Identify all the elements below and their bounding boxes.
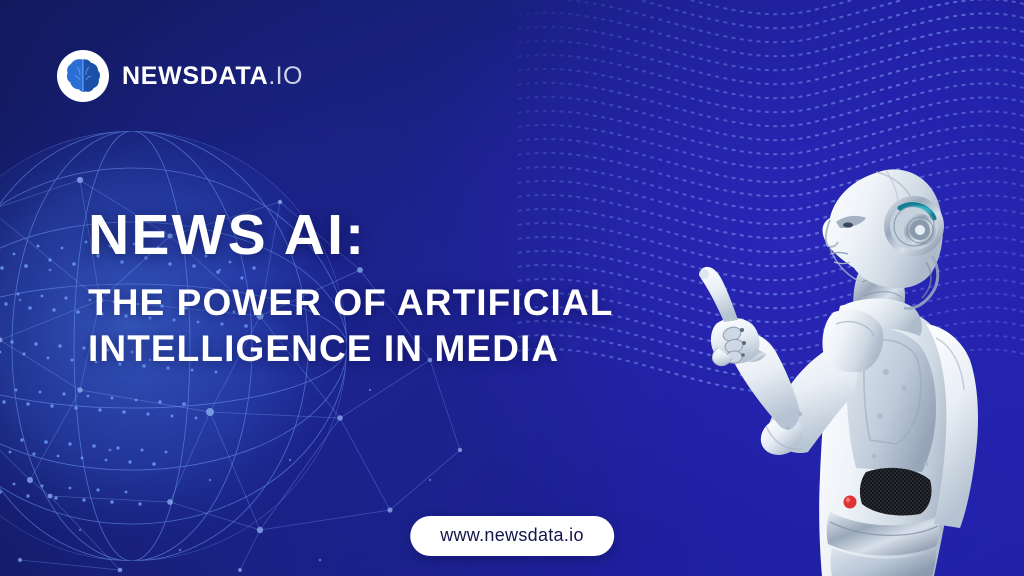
website-url-pill[interactable]: www.newsdata.io [410, 516, 614, 556]
headline-block: NEWS AI: THE POWER OF ARTIFICIAL INTELLI… [88, 206, 688, 373]
brand-name: NEWSDATA [122, 62, 268, 90]
shield-brain-icon [57, 50, 109, 102]
banner-poster: NEWSDATA.IO NEWS AI: THE POWER OF ARTIFI… [0, 0, 1024, 576]
page-title: NEWS AI: [88, 206, 688, 264]
subtitle-line-1: THE POWER OF ARTIFICIAL [88, 280, 688, 326]
page-subtitle: THE POWER OF ARTIFICIAL INTELLIGENCE IN … [88, 280, 688, 373]
humanoid-robot-pointing-graphic [690, 156, 1020, 576]
brand-tld: .IO [268, 62, 303, 90]
brand-wordmark: NEWSDATA.IO [122, 64, 303, 89]
brand-logo[interactable]: NEWSDATA.IO [57, 50, 303, 102]
subtitle-line-2: INTELLIGENCE IN MEDIA [88, 326, 688, 372]
